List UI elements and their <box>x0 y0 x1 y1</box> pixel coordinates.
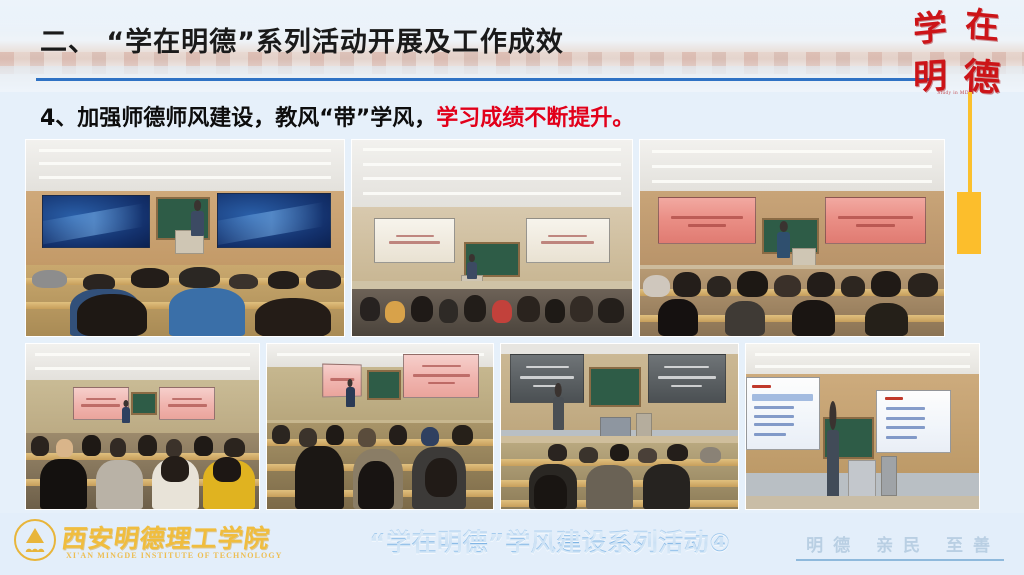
photo-5-screen-left <box>322 363 361 397</box>
page-title: 二、 “学在明德”系列活动开展及工作成效 <box>40 20 564 59</box>
photo-4-chalkboard <box>131 392 157 415</box>
photo-7-screen-right <box>876 390 951 453</box>
photo-5-chalkboard <box>367 370 401 400</box>
seal-characters: 学 在 明 德 <box>904 6 1008 98</box>
photo-6[interactable] <box>500 343 738 510</box>
subtitle-plain-text: 4、加强师德师风建设，教风“带”学风， <box>40 106 436 131</box>
photo-2-ceiling <box>352 140 632 207</box>
university-motto: 明德 亲民 至善 <box>806 531 1000 556</box>
photo-3-audience <box>640 269 944 336</box>
photo-3-screen-right <box>825 197 925 244</box>
photo-3[interactable] <box>639 139 945 337</box>
photo-7[interactable] <box>745 343 980 510</box>
photo-1-audience <box>26 265 344 336</box>
photo-1-ceiling <box>26 140 344 191</box>
university-name-en: XI'AN MINGDE INSTITUTE OF TECHNOLOGY <box>66 551 283 560</box>
photo-2[interactable] <box>351 139 633 337</box>
photo-3-speaker <box>777 232 791 257</box>
photo-7-screen-left <box>746 377 821 450</box>
photo-5-speaker <box>346 387 354 407</box>
university-emblem-icon <box>14 519 56 561</box>
photo-6-ceiling <box>501 344 737 354</box>
footer-campaign-title: “学在明德”学风建设系列活动④ <box>340 523 760 559</box>
photo-4-speaker <box>122 407 130 424</box>
photo-4-audience <box>26 433 259 509</box>
photo-6-screen-left <box>510 354 583 404</box>
photo-4-ceiling <box>26 344 259 380</box>
xuezaimingde-seal-logo: 学 在 明 德 Study in MDIT <box>904 6 1008 98</box>
photo-4[interactable] <box>25 343 260 510</box>
photo-1-screen-left <box>42 195 150 248</box>
accent-vertical-line <box>968 92 972 202</box>
photo-1-screen-right <box>217 193 331 248</box>
section-subtitle: 4、加强师德师风建设，教风“带”学风，学习成绩不断提升。 <box>40 100 634 132</box>
accent-block <box>957 192 981 254</box>
photo-3-screen-left <box>658 197 755 244</box>
photo-7-floor <box>746 496 979 509</box>
photo-1[interactable] <box>25 139 345 337</box>
photo-5-audience <box>267 423 493 509</box>
subtitle-highlight-text: 学习成绩不断提升。 <box>436 106 634 131</box>
photo-1-speaker <box>191 211 204 236</box>
presentation-slide: 二、 “学在明德”系列活动开展及工作成效 学 在 明 德 Study in MD… <box>0 0 1024 575</box>
photo-7-speaker <box>827 430 839 499</box>
photo-2-speaker <box>467 262 477 280</box>
photo-4-screen-left <box>73 387 129 420</box>
photo-6-audience <box>501 443 737 509</box>
slide-footer: 西安明德理工学院 XI'AN MINGDE INSTITUTE OF TECHN… <box>0 513 1024 575</box>
photo-6-screen-right <box>648 354 726 404</box>
motto-underline-rule <box>796 559 1004 561</box>
slide-header: 二、 “学在明德”系列活动开展及工作成效 <box>0 0 1024 92</box>
photo-grid-bottom-row <box>25 343 980 510</box>
photo-2-screen-right <box>526 218 610 263</box>
photo-2-audience <box>352 289 632 336</box>
seal-subtext: Study in MDIT <box>904 91 1008 96</box>
photo-2-screen-left <box>374 218 455 263</box>
seal-char-2: 在 <box>955 6 1008 51</box>
photo-5[interactable] <box>266 343 494 510</box>
title-underline-rule <box>36 78 930 81</box>
photo-3-ceiling <box>640 140 944 191</box>
photo-7-podium <box>848 460 876 500</box>
photo-4-screen-right <box>159 387 215 420</box>
photo-6-speaker <box>553 397 564 430</box>
photo-7-ceiling <box>746 344 979 374</box>
photo-5-screen-right <box>403 354 480 399</box>
university-name-cn: 西安明德理工学院 <box>59 519 272 555</box>
photo-7-side-table <box>881 456 897 496</box>
seal-char-1: 学 <box>904 6 957 55</box>
photo-grid-top-row <box>25 139 945 337</box>
photo-6-chalkboard <box>589 367 641 407</box>
